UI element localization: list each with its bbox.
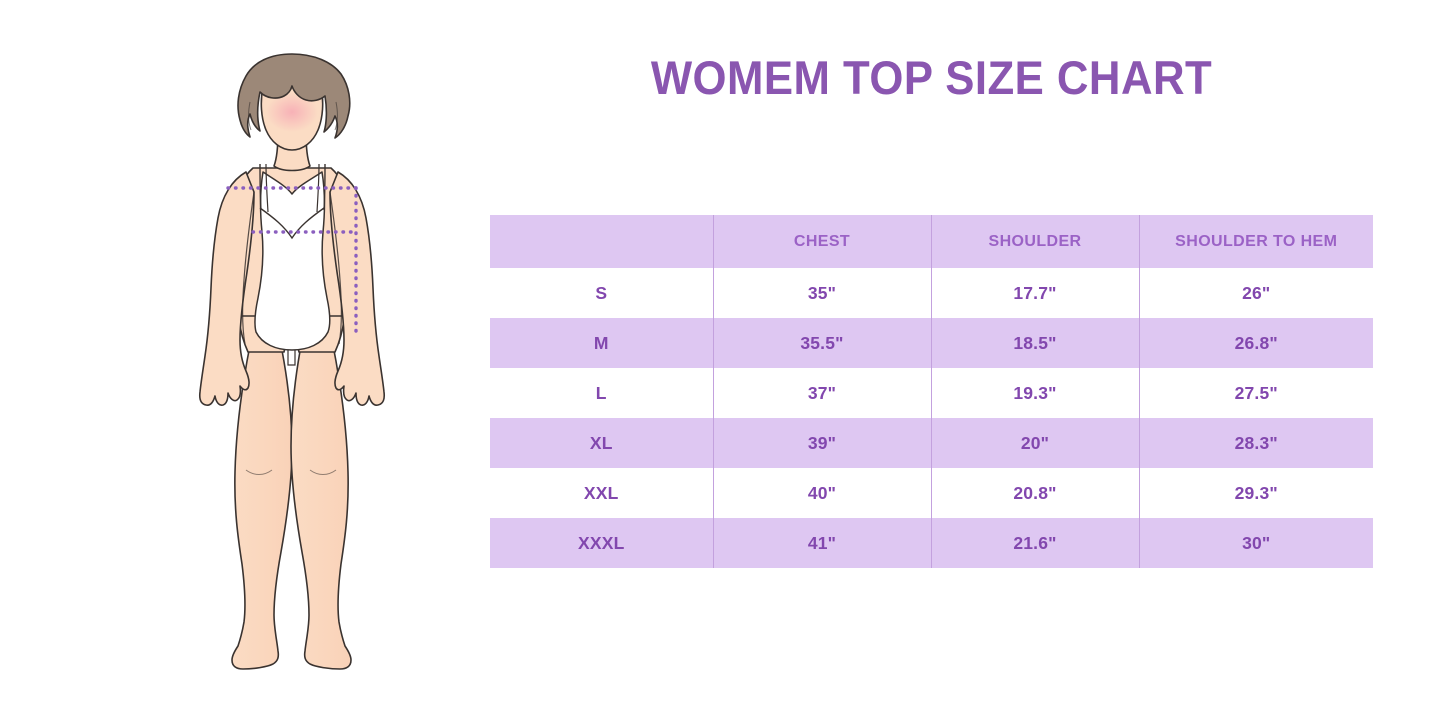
cell-shoulder-to-hem: 26.8" [1139,318,1373,368]
column-header-shoulder-to-hem: SHOULDER TO HEM [1139,215,1373,268]
cell-shoulder-to-hem: 28.3" [1139,418,1373,468]
illustration-panel: SHOULDER CHEST SHOULDER TO HEM [0,0,470,723]
size-chart-table: CHEST SHOULDER SHOULDER TO HEM S 35" 17.… [490,215,1373,568]
cell-shoulder: 21.6" [931,518,1139,568]
legs-group [232,340,351,669]
page-title: WOMEM TOP SIZE CHART [521,50,1342,105]
table-row: XL 39" 20" 28.3" [490,418,1373,468]
table-body: S 35" 17.7" 26" M 35.5" 18.5" 26.8" L 37… [490,268,1373,568]
table-row: XXXL 41" 21.6" 30" [490,518,1373,568]
cell-size: XXL [490,468,713,518]
bodysuit-garment [255,172,330,350]
cell-size: L [490,368,713,418]
size-chart-table-container: CHEST SHOULDER SHOULDER TO HEM S 35" 17.… [490,215,1373,568]
cell-chest: 40" [713,468,931,518]
cell-shoulder: 17.7" [931,268,1139,318]
cell-shoulder: 19.3" [931,368,1139,418]
cell-shoulder: 20" [931,418,1139,468]
cell-shoulder: 18.5" [931,318,1139,368]
cell-shoulder-to-hem: 27.5" [1139,368,1373,418]
cell-size: S [490,268,713,318]
cell-size: XXXL [490,518,713,568]
table-row: XXL 40" 20.8" 29.3" [490,468,1373,518]
cell-size: M [490,318,713,368]
column-header-chest: CHEST [713,215,931,268]
table-header-row: CHEST SHOULDER SHOULDER TO HEM [490,215,1373,268]
cell-chest: 41" [713,518,931,568]
cell-shoulder-to-hem: 29.3" [1139,468,1373,518]
column-header-shoulder: SHOULDER [931,215,1139,268]
cell-chest: 35.5" [713,318,931,368]
table-row: S 35" 17.7" 26" [490,268,1373,318]
cell-chest: 37" [713,368,931,418]
cell-chest: 35" [713,268,931,318]
column-header-size [490,215,713,268]
table-row: M 35.5" 18.5" 26.8" [490,318,1373,368]
female-body-figure [150,40,450,700]
right-leg [291,340,351,669]
cell-shoulder: 20.8" [931,468,1139,518]
table-header: CHEST SHOULDER SHOULDER TO HEM [490,215,1373,268]
table-row: L 37" 19.3" 27.5" [490,368,1373,418]
cell-size: XL [490,418,713,468]
cell-shoulder-to-hem: 30" [1139,518,1373,568]
cell-chest: 39" [713,418,931,468]
figure-body-group [200,54,385,669]
cell-shoulder-to-hem: 26" [1139,268,1373,318]
